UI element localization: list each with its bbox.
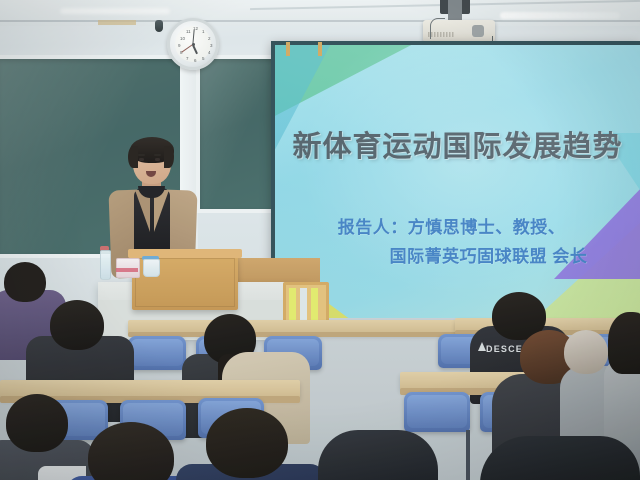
chair-r3-2[interactable] xyxy=(128,336,186,370)
student-head xyxy=(6,394,68,452)
clock-numeral: 7 xyxy=(186,57,189,62)
stand-leg-left xyxy=(286,42,290,56)
student-head xyxy=(564,330,608,374)
presenter-eyebrow-right xyxy=(154,154,161,156)
clock-numeral: 10 xyxy=(180,37,185,42)
stand-slat xyxy=(311,288,318,320)
blackboard-center xyxy=(196,55,280,213)
water-bottle xyxy=(100,250,111,280)
student-head xyxy=(4,262,46,302)
clock-numeral: 2 xyxy=(208,37,211,42)
lecture-hall-photo: 12 1 2 3 4 5 6 7 8 9 10 11 xyxy=(0,0,640,480)
clock-numeral: 4 xyxy=(208,51,211,56)
clock-numeral: 6 xyxy=(194,59,197,64)
stand-leg-right xyxy=(318,42,322,56)
presenter-eye-left xyxy=(139,158,144,161)
clock-numeral: 3 xyxy=(210,44,213,49)
chair-leg xyxy=(466,430,470,480)
ceiling-seam xyxy=(0,20,640,22)
student-head xyxy=(50,300,104,350)
ceiling-light-secondary xyxy=(60,8,170,14)
slide-title: 新体育运动国际发展趋势 xyxy=(275,123,640,165)
chair-r2-4[interactable] xyxy=(404,392,470,432)
presenter-hair-side-right xyxy=(164,146,174,168)
projection-screen-frame: 新体育运动国际发展趋势 报告人：方慎思博士、教授、 国际菁英巧固球联盟 会长 xyxy=(271,41,640,323)
stand-slat xyxy=(300,288,307,320)
presenter-eye-right xyxy=(155,158,160,161)
slide-projection-glow xyxy=(275,45,640,319)
clock-numeral: 9 xyxy=(178,44,181,49)
clock-numeral: 1 xyxy=(202,30,205,35)
student-jacket xyxy=(318,430,438,480)
wall-sensor-icon xyxy=(155,20,163,32)
projector-mount-pole xyxy=(448,0,462,22)
blackboard-sheen xyxy=(200,59,276,209)
stand-slat xyxy=(289,288,296,320)
slide-subtitle-line-1: 报告人：方慎思博士、教授、 xyxy=(275,213,640,238)
student-head xyxy=(608,312,640,374)
wall-wood-strip xyxy=(98,20,136,25)
chair-back xyxy=(407,395,467,428)
clock-face: 12 1 2 3 4 5 6 7 8 9 10 11 xyxy=(175,26,211,62)
clock-numeral: 11 xyxy=(186,30,191,35)
clock-numeral: 5 xyxy=(202,57,205,62)
paper-cup xyxy=(143,259,160,277)
slide-subtitle-line-2: 国际菁英巧固球联盟 会长 xyxy=(275,242,640,267)
presenter-eyebrow-left xyxy=(138,154,145,156)
wall-clock: 12 1 2 3 4 5 6 7 8 9 10 11 xyxy=(167,18,219,70)
student-jacket xyxy=(480,436,640,480)
chair-back xyxy=(131,339,183,366)
ceiling-light xyxy=(500,12,620,19)
projector-cable-secondary xyxy=(430,18,445,39)
tissue-box-band xyxy=(116,268,138,272)
clock-center-pin xyxy=(192,43,195,46)
student-head xyxy=(206,408,288,478)
clock-hour-hand xyxy=(192,45,198,55)
presenter-hair-side-left xyxy=(128,146,138,168)
presentation-slide: 新体育运动国际发展趋势 报告人：方慎思博士、教授、 国际菁英巧固球联盟 会长 xyxy=(275,45,640,319)
